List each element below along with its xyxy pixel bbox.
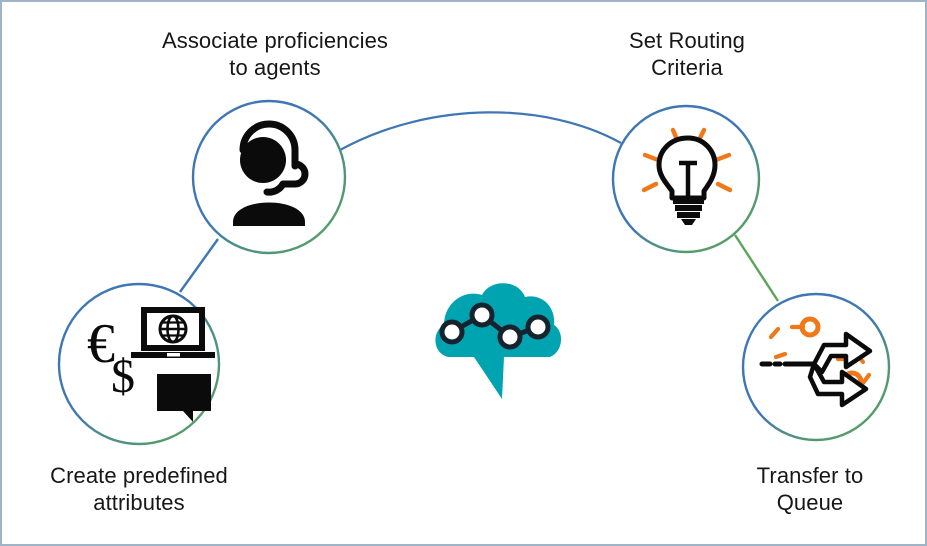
cloud-network-icon	[435, 283, 561, 399]
laptop-globe-icon	[131, 307, 215, 358]
node-label-set-routing-criteria: Set Routing Criteria	[572, 28, 802, 82]
diagram-frame: € $	[0, 0, 927, 546]
node-label-transfer-to-queue: Transfer to Queue	[690, 463, 927, 517]
connector-left	[180, 239, 218, 292]
node-label-create-predefined-attributes: Create predefined attributes	[14, 463, 264, 517]
connector-top-arc	[340, 112, 621, 150]
connector-right	[735, 235, 778, 301]
node-label-associate-proficiencies: Associate proficiencies to agents	[130, 28, 420, 82]
